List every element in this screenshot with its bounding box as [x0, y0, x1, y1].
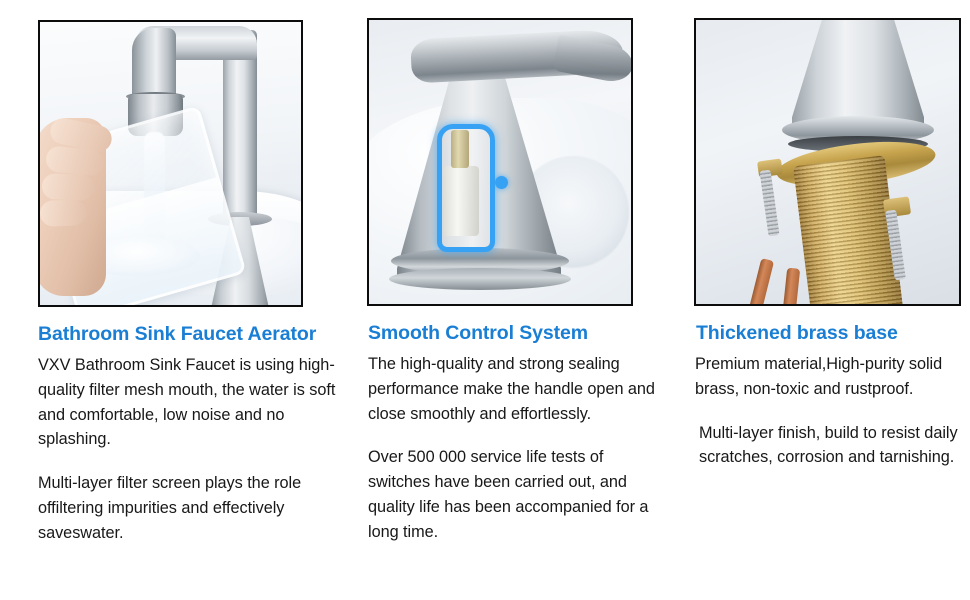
- feature-column-aerator: Bathroom Sink Faucet Aerator VXV Bathroo…: [38, 0, 353, 546]
- feature-columns: Bathroom Sink Faucet Aerator VXV Bathroo…: [0, 0, 970, 546]
- feature-column-control-system: Smooth Control System The high-quality a…: [367, 0, 680, 545]
- feature-paragraph-2: Multi-layer finish, build to resist dail…: [699, 421, 970, 471]
- product-feature-page: Bathroom Sink Faucet Aerator VXV Bathroo…: [0, 0, 970, 600]
- finger-shape: [42, 173, 95, 201]
- handle-base-ring-lower-shape: [389, 268, 571, 290]
- feature-paragraph-2: Over 500 000 service life tests of switc…: [368, 445, 658, 544]
- product-photo-control-system: [367, 18, 633, 306]
- feature-heading-brass-base: Thickened brass base: [696, 321, 962, 345]
- feature-paragraph-1: The high-quality and strong sealing perf…: [368, 352, 658, 426]
- photo-stage-brass-base: [696, 20, 959, 304]
- callout-dot-icon: [495, 176, 508, 189]
- feature-paragraph-2: Multi-layer filter screen plays the role…: [38, 471, 338, 545]
- photo-stage-control-system: [369, 20, 631, 304]
- photo-stage-aerator: [40, 22, 301, 305]
- cartridge-highlight-outline: [437, 124, 495, 252]
- feature-heading-control-system: Smooth Control System: [368, 321, 680, 345]
- finger-shape: [40, 199, 86, 227]
- feature-paragraph-1: VXV Bathroom Sink Faucet is using high-q…: [38, 353, 338, 452]
- feature-column-brass-base: Thickened brass base Premium material,Hi…: [694, 0, 962, 470]
- product-photo-brass-base: [694, 18, 961, 306]
- feature-paragraph-1: Premium material,High-purity solid brass…: [695, 352, 970, 402]
- product-photo-aerator: [38, 20, 303, 307]
- feature-heading-aerator: Bathroom Sink Faucet Aerator: [38, 322, 353, 346]
